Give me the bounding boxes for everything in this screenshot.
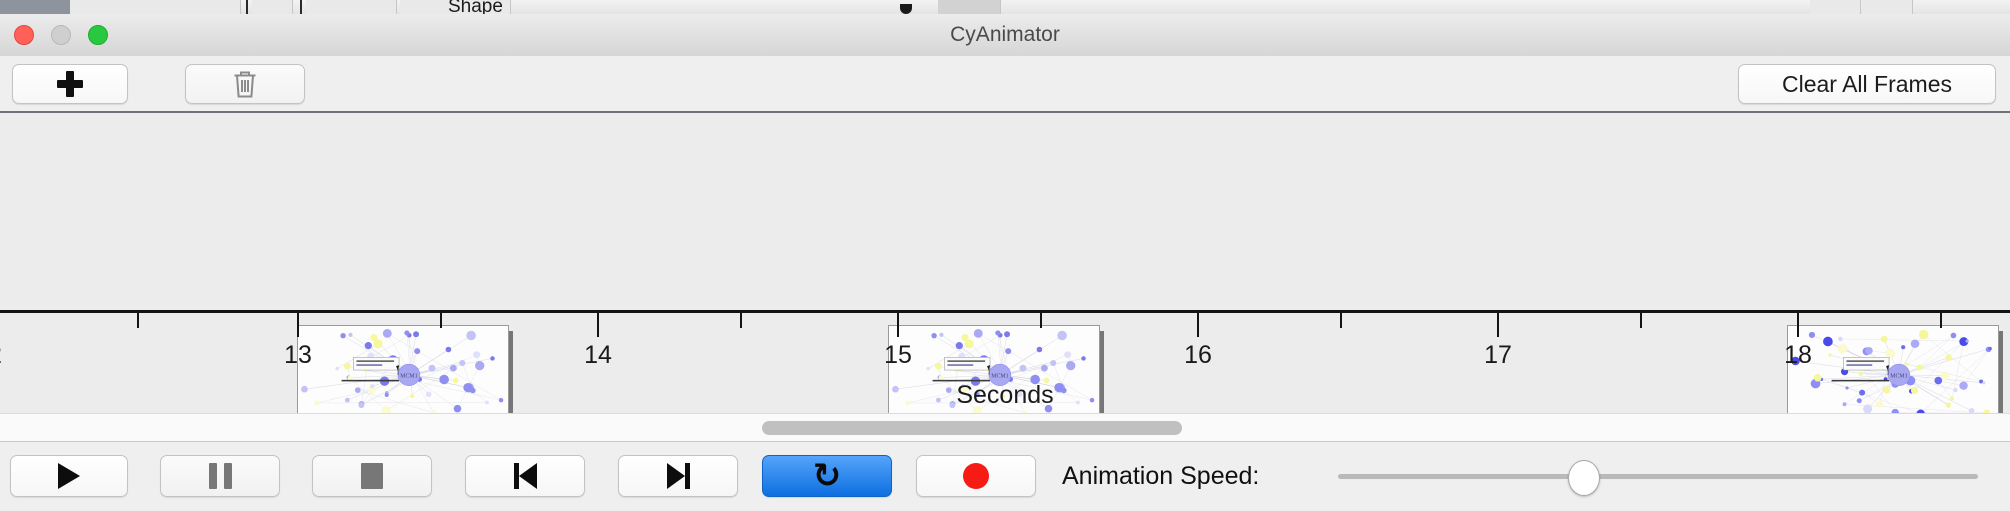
plus-icon [57,71,83,97]
delete-frame-button[interactable] [185,64,305,104]
skip-forward-icon [667,463,690,489]
background-window-strip: Shape [0,0,2010,15]
skip-to-start-button[interactable] [465,455,585,497]
axis-title: Seconds [0,381,2010,410]
frame-toolbar: Clear All Frames [0,56,2010,113]
loop-button[interactable]: ↻ [762,455,892,497]
axis-tick-label: 18 [1784,341,1812,370]
axis-tick [137,313,139,328]
axis-tick [597,313,599,337]
timeline-canvas[interactable]: MCM1MCM1MCM1 2131415161718 Seconds [0,113,2010,413]
skip-back-icon [514,463,537,489]
cyanimator-window: Shape CyAnimator Clear All Frames MC [0,0,2010,510]
axis-tick [297,313,299,337]
pause-icon [209,463,232,489]
loop-icon: ↻ [813,459,842,493]
timeline-axis [0,310,2010,313]
background-window-label: Shape [448,0,503,15]
skip-to-end-button[interactable] [618,455,738,497]
svg-text:MCM1: MCM1 [991,374,1009,380]
axis-tick-label: 17 [1484,341,1512,370]
axis-tick-label: 14 [584,341,612,370]
play-icon [58,463,80,489]
axis-tick [1497,313,1499,337]
animation-speed-label: Animation Speed: [1062,455,1259,497]
animation-speed-slider[interactable] [1338,455,1978,497]
timeline-scrollbar-thumb[interactable] [762,421,1182,435]
svg-text:MCM1: MCM1 [1890,374,1908,380]
play-button[interactable] [10,455,128,497]
axis-tick [440,313,442,328]
playback-bar: ↻ Animation Speed: [0,441,2010,511]
timeline-scrollbar[interactable] [0,413,2010,442]
svg-text:MCM1: MCM1 [400,374,418,380]
axis-tick-label: 2 [0,341,2,370]
axis-tick [1040,313,1042,328]
axis-tick-label: 13 [284,341,312,370]
axis-tick-label: 16 [1184,341,1212,370]
axis-tick [897,313,899,337]
title-bar: CyAnimator [0,14,2010,57]
speed-slider-thumb[interactable] [1568,460,1600,496]
axis-tick [1797,313,1799,337]
clear-all-frames-label: Clear All Frames [1782,71,1952,98]
window-title: CyAnimator [0,14,2010,56]
clear-all-frames-button[interactable]: Clear All Frames [1738,64,1996,104]
axis-tick [1640,313,1642,328]
record-icon [963,463,989,489]
speed-slider-track [1338,474,1978,479]
stop-button[interactable] [312,455,432,497]
axis-tick [740,313,742,328]
axis-tick [1940,313,1942,328]
axis-tick [1197,313,1199,337]
record-button[interactable] [916,455,1036,497]
add-frame-button[interactable] [12,64,128,104]
axis-tick [1340,313,1342,328]
stop-icon [361,463,383,489]
axis-tick-label: 15 [884,341,912,370]
pause-button[interactable] [160,455,280,497]
trash-icon [232,69,258,99]
